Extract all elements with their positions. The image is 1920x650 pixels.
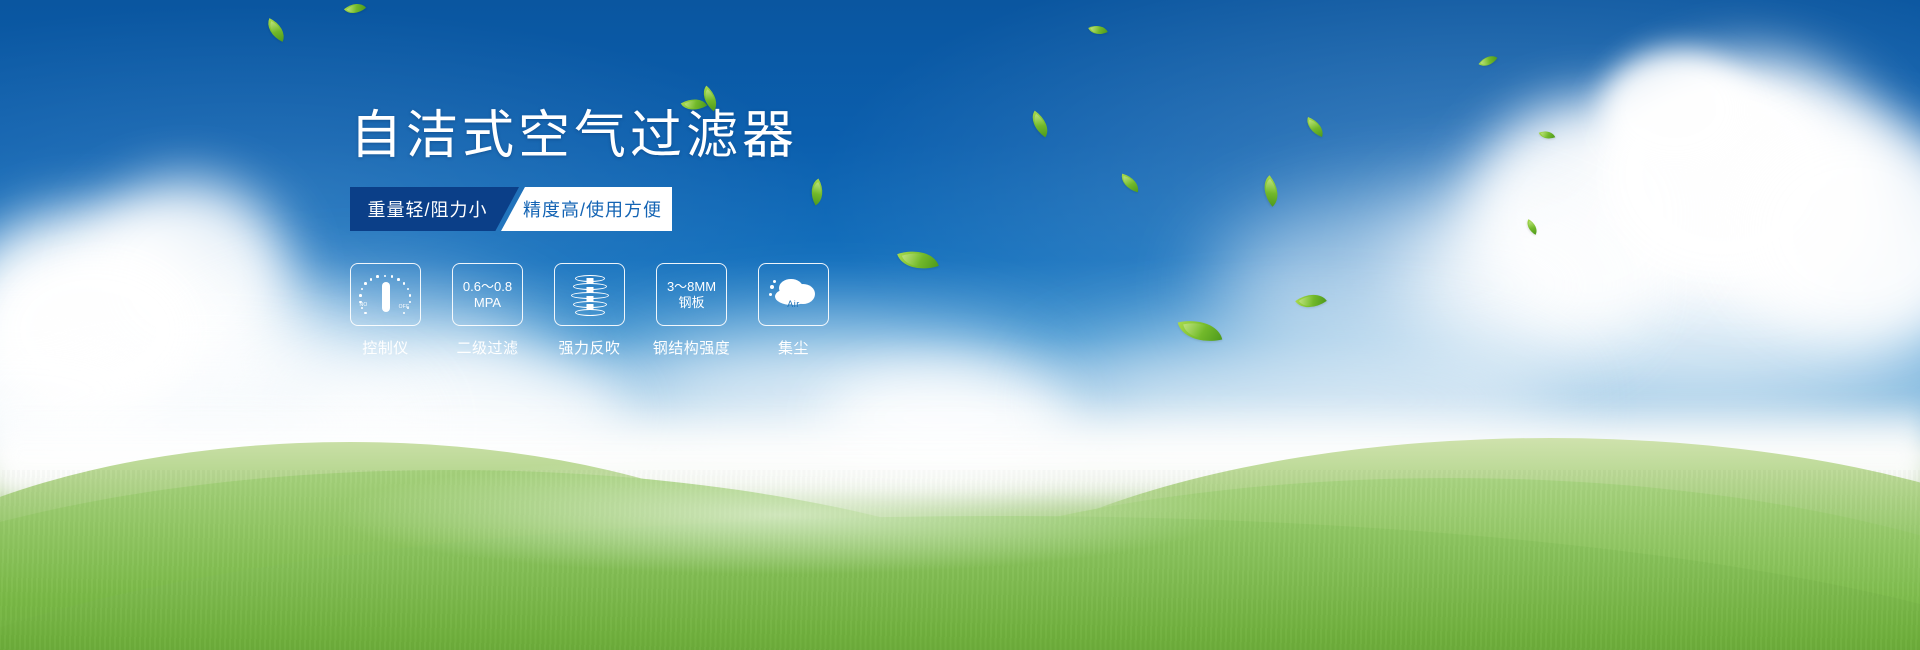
leaf-icon	[1119, 174, 1142, 193]
pressure-unit: MPA	[474, 295, 501, 311]
feature-icon-box	[554, 263, 625, 326]
air-cloud-icon: Air	[769, 275, 819, 315]
tab-high-precision-easy-use[interactable]: 精度高/使用方便	[501, 187, 672, 231]
feature-label: 强力反吹	[558, 337, 620, 358]
coil-icon	[570, 273, 610, 317]
feature-label: 钢结构强度	[653, 337, 731, 358]
feature-tab-group: 重量轻/阻力小 精度高/使用方便	[350, 187, 672, 231]
feature-item-controller[interactable]: NO OFF 控制仪	[350, 263, 421, 358]
leaf-icon	[1088, 21, 1108, 39]
air-label: Air	[769, 296, 819, 313]
feature-icon-row: NO OFF 控制仪 0.6～0.8 MPA 二级过滤	[350, 263, 1050, 358]
gauge-icon: NO OFF	[360, 273, 412, 317]
gauge-label-off: OFF	[399, 299, 410, 316]
feature-label: 二级过滤	[456, 337, 518, 358]
leaf-icon	[263, 18, 290, 42]
steel-thickness: 3～8MM	[667, 279, 716, 295]
gauge-label-no: NO	[360, 297, 368, 314]
banner-content: 自洁式空气过滤器 重量轻/阻力小 精度高/使用方便	[350, 105, 1050, 358]
feature-icon-box: Air	[758, 263, 829, 326]
feature-item-strong-backblow[interactable]: 强力反吹	[554, 263, 625, 358]
feature-label: 集尘	[778, 337, 809, 358]
feature-icon-box: 0.6～0.8 MPA	[452, 263, 523, 326]
feature-item-steel-strength[interactable]: 3～8MM 钢板 钢结构强度	[656, 263, 727, 358]
feature-icon-box: 3～8MM 钢板	[656, 263, 727, 326]
tab-lightweight-low-resistance[interactable]: 重量轻/阻力小	[350, 187, 519, 231]
steel-material: 钢板	[678, 295, 704, 311]
pressure-value: 0.6～0.8	[463, 279, 512, 295]
title-leaf-decoration	[683, 91, 723, 121]
feature-icon-box: NO OFF	[350, 263, 421, 326]
hero-banner: 自洁式空气过滤器 重量轻/阻力小 精度高/使用方便	[0, 0, 1920, 650]
feature-item-two-stage-filter[interactable]: 0.6～0.8 MPA 二级过滤	[452, 263, 523, 358]
feature-item-dust-collection[interactable]: Air 集尘	[758, 263, 829, 358]
leaf-icon	[344, 0, 366, 19]
feature-label: 控制仪	[362, 337, 409, 358]
grass-glow	[330, 455, 1230, 575]
